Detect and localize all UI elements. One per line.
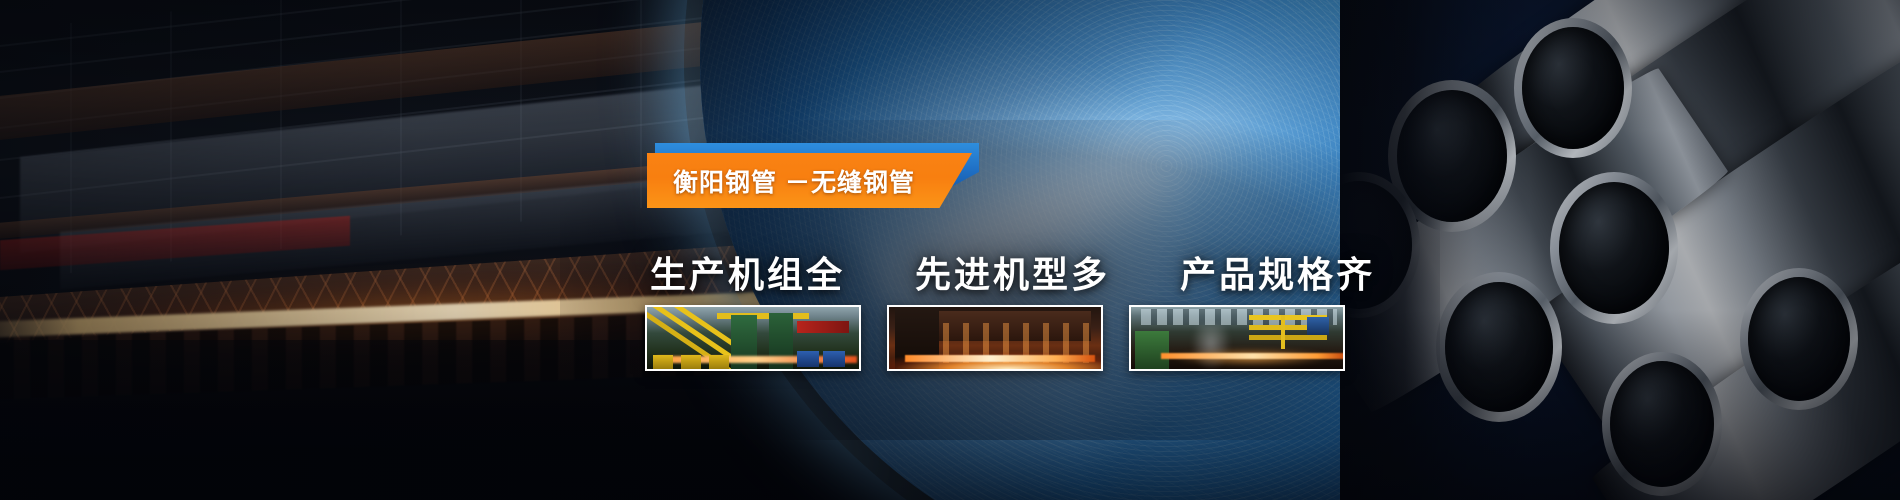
thumbnail-gallery — [645, 305, 1345, 371]
badge-label: 衡阳钢管 －无缝钢管 — [647, 163, 915, 199]
thumbnail-rolling-mill-workshop[interactable] — [645, 305, 861, 371]
banner-content: 衡阳钢管 －无缝钢管 生产机组全 先进机型多 产品规格齐 — [0, 0, 1900, 500]
headline-part-1: 生产机组全 — [650, 254, 845, 295]
headline-part-3: 产品规格齐 — [1180, 254, 1375, 295]
brand-badge: 衡阳钢管 －无缝钢管 — [647, 143, 979, 209]
thumbnail-hot-rolling-line-workshop[interactable] — [1129, 305, 1345, 371]
headline-part-2: 先进机型多 — [915, 254, 1110, 295]
thumbnail-hot-billet-furnace[interactable] — [887, 305, 1103, 371]
banner-headline: 生产机组全 先进机型多 产品规格齐 — [650, 246, 1375, 298]
badge-orange-face: 衡阳钢管 －无缝钢管 — [647, 153, 972, 208]
hero-banner: 衡阳钢管 －无缝钢管 生产机组全 先进机型多 产品规格齐 — [0, 0, 1900, 500]
